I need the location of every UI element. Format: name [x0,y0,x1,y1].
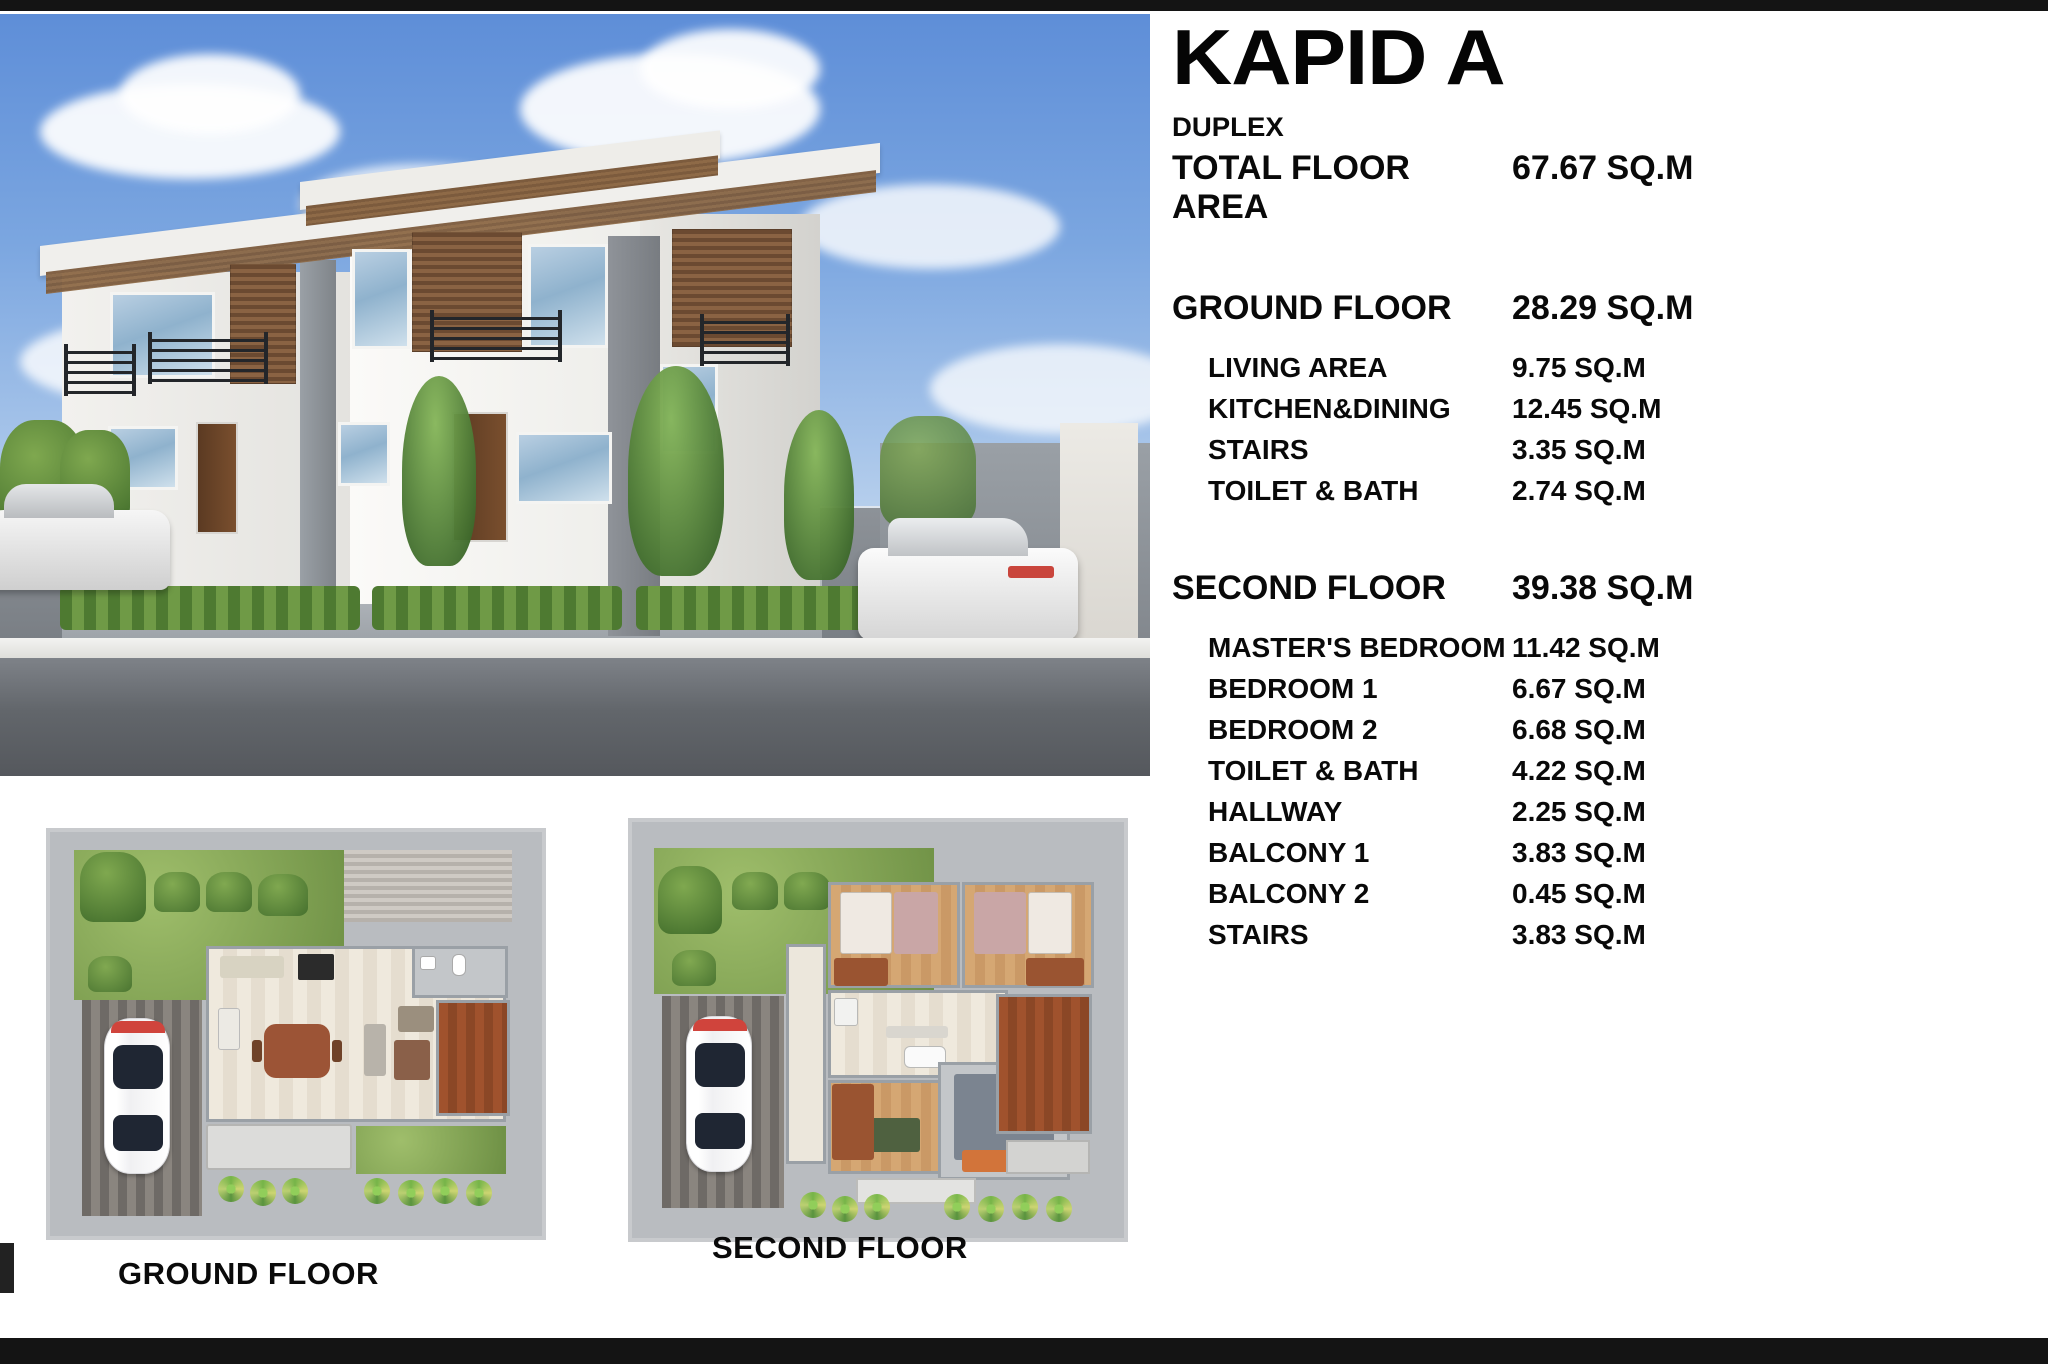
shrub-icon [672,950,716,986]
floor-header-ground: GROUND FLOOR 28.29 SQ.M [1172,289,2032,328]
left-edge-marker [0,1243,14,1293]
windshield [695,1043,745,1087]
dining-chair [252,1040,262,1062]
room-area: 3.83 SQ.M [1512,837,1646,869]
palm-plant-icon [944,1194,970,1220]
vanity-counter [886,1026,948,1038]
page-title: KAPID A [1172,18,2048,96]
refrigerator [218,1008,240,1050]
specification-panel: KAPID A DUPLEX TOTAL FLOOR AREA 67.67 SQ… [1172,18,2032,951]
cloud-icon [640,29,820,109]
shrub-icon [154,872,200,912]
room-area: 11.42 SQ.M [1512,632,1660,664]
windshield [113,1045,163,1089]
top-letterbox-bar [0,0,2048,11]
tree-icon [658,866,722,934]
room-row: STAIRS 3.35 SQ.M [1172,434,2032,466]
tree-icon [880,416,976,526]
shrub-icon [732,872,778,910]
bed [1028,892,1072,954]
room-label: BEDROOM 1 [1208,673,1512,705]
grey-pier-column [300,260,336,610]
room-label: MASTER'S BEDROOM [1208,632,1512,664]
front-terrace [206,1124,352,1170]
palm-plant-icon [466,1180,492,1206]
room-area: 6.67 SQ.M [1512,673,1646,705]
room-area: 2.74 SQ.M [1512,475,1646,507]
palm-plant-icon [1046,1196,1072,1222]
floor-name-second: SECOND FLOOR [1172,569,1512,608]
total-floor-area-value: 67.67 SQ.M [1512,149,1693,188]
room-row: STAIRS 3.83 SQ.M [1172,919,2032,951]
kitchen-counter [220,956,284,978]
lavatory [420,956,436,970]
room-row: TOILET & BATH 4.22 SQ.M [1172,755,2032,787]
room-label: HALLWAY [1208,796,1512,828]
palm-plant-icon [282,1178,308,1204]
palm-plant-icon [364,1178,390,1204]
room-row: LIVING AREA 9.75 SQ.M [1172,352,2032,384]
room-area: 2.25 SQ.M [1512,796,1646,828]
palm-plant-icon [250,1180,276,1206]
toilet-fixture [452,954,466,976]
room-row: KITCHEN&DINING 12.45 SQ.M [1172,393,2032,425]
shrub-icon [784,872,830,910]
parked-car-left [0,510,170,590]
palm-plant-icon [800,1192,826,1218]
room-label: KITCHEN&DINING [1208,393,1512,425]
room-row: BEDROOM 2 6.68 SQ.M [1172,714,2032,746]
palm-plant-icon [832,1196,858,1222]
palm-plant-icon [432,1178,458,1204]
rear-window [113,1115,163,1151]
room-label: TOILET & BATH [1208,475,1512,507]
bamboo-plant-icon [784,410,854,580]
cloud-icon [800,184,1060,269]
stairs [996,994,1092,1134]
cloud-icon [120,54,300,134]
rug [394,1040,430,1080]
second-floor-plan-caption: SECOND FLOOR [712,1230,968,1266]
tail-light [1008,566,1054,578]
shrub-icon [206,872,252,912]
palm-plant-icon [864,1194,890,1220]
lavatory [834,998,858,1026]
house-type-subtitle: DUPLEX [1172,112,2048,143]
room-area: 6.68 SQ.M [1512,714,1646,746]
balcony-railing [700,314,790,366]
room-row: MASTER'S BEDROOM 11.42 SQ.M [1172,632,2032,664]
armchair [398,1006,434,1032]
room-row: BEDROOM 1 6.67 SQ.M [1172,673,2032,705]
room-label: TOILET & BATH [1208,755,1512,787]
shrub-icon [258,874,308,916]
palm-plant-icon [1012,1194,1038,1220]
floor-area-ground: 28.29 SQ.M [1512,289,1693,328]
palm-plant-icon [978,1196,1004,1222]
room-row: BALCONY 2 0.45 SQ.M [1172,878,2032,910]
wood-accent [832,1084,874,1160]
bed-blanket [974,892,1026,954]
palm-plant-icon [398,1180,424,1206]
front-door [196,422,238,534]
room-row: HALLWAY 2.25 SQ.M [1172,796,2032,828]
roof-over-hang [344,850,512,922]
room-label: BEDROOM 2 [1208,714,1512,746]
room-label: BALCONY 1 [1208,837,1512,869]
room-area: 9.75 SQ.M [1512,352,1646,384]
room-area: 3.35 SQ.M [1512,434,1646,466]
shrub-icon [88,956,132,992]
dining-chair [332,1040,342,1062]
wood-accent [1026,958,1084,986]
rear-window [695,1113,745,1149]
road [0,658,1150,776]
tail-light [111,1021,165,1033]
brochure-page: KAPID A DUPLEX TOTAL FLOOR AREA 67.67 SQ… [0,0,2048,1364]
room-area: 0.45 SQ.M [1512,878,1646,910]
balcony-1 [1006,1140,1090,1174]
palm-plant-icon [218,1176,244,1202]
total-floor-area-label: TOTAL FLOOR AREA [1172,149,1512,227]
hedge-row [372,586,622,630]
ground-floor-plan-image [46,828,546,1240]
balcony-railing [430,310,562,362]
floor-area-second: 39.38 SQ.M [1512,569,1693,608]
balcony-railing [148,332,268,384]
bamboo-plant-icon [628,366,724,576]
bed-blanket [894,892,938,954]
stove [298,954,334,980]
room-label: LIVING AREA [1208,352,1512,384]
second-floor-plan-image [628,818,1128,1242]
room-row: TOILET & BATH 2.74 SQ.M [1172,475,2032,507]
floor-name-ground: GROUND FLOOR [1172,289,1512,328]
dining-table [264,1024,330,1078]
balcony-2 [786,944,826,1164]
car-top-view [686,1016,752,1172]
room-area: 3.83 SQ.M [1512,919,1646,951]
hedge-row [60,586,360,630]
tail-light [693,1019,747,1031]
window [352,249,410,349]
parked-car-right [858,548,1078,640]
balcony-railing [64,344,136,396]
room-label: STAIRS [1208,919,1512,951]
wood-accent [834,958,888,986]
bottom-letterbox-bar [0,1338,2048,1364]
total-floor-area-row: TOTAL FLOOR AREA 67.67 SQ.M [1172,149,2032,227]
bamboo-plant-icon [402,376,476,566]
bed [840,892,892,954]
floor-header-second: SECOND FLOOR 39.38 SQ.M [1172,569,2032,608]
room-area: 4.22 SQ.M [1512,755,1646,787]
room-label: STAIRS [1208,434,1512,466]
room-row: BALCONY 1 3.83 SQ.M [1172,837,2032,869]
ground-floor-plan-caption: GROUND FLOOR [118,1256,379,1292]
side-garden [356,1126,506,1174]
tree-icon [80,852,146,922]
window [516,432,612,504]
window [338,422,390,486]
room-area: 12.45 SQ.M [1512,393,1661,425]
room-label: BALCONY 2 [1208,878,1512,910]
house-exterior-photo [0,14,1150,776]
sofa [364,1024,386,1076]
car-top-view [104,1018,170,1174]
stairs [436,1000,510,1116]
